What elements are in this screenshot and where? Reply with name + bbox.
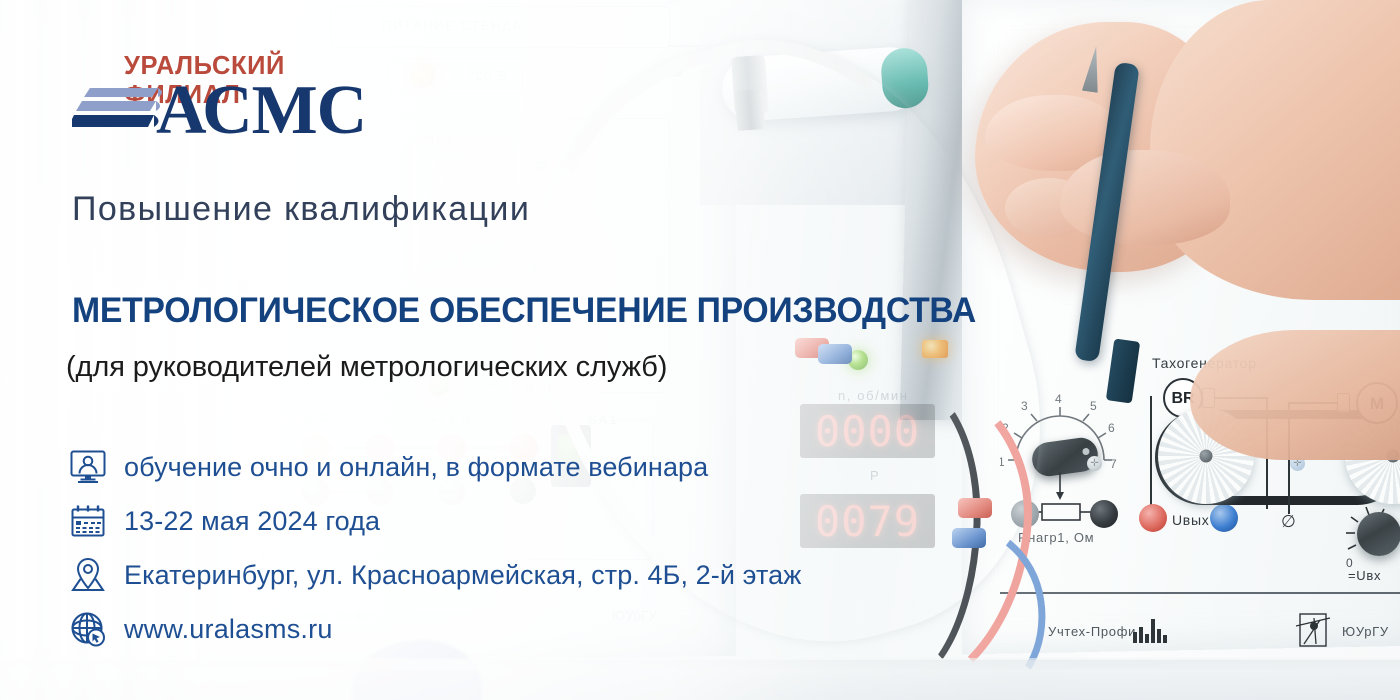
content-layer: УРАЛЬСКИЙ ФИЛИАЛ АСМС Повышение квалифик…: [0, 0, 1400, 700]
logo-acronym: АСМС: [156, 76, 366, 146]
page-subtitle: (для руководителей метрологических служб…: [66, 351, 667, 384]
globe-cursor-icon: [66, 607, 110, 651]
map-pin-icon: [66, 553, 110, 597]
promo-banner: ПИТАНИЕ СТЕНДА ~ 220 В QF1 Schneider = 1…: [0, 0, 1400, 700]
info-text-dates: 13-22 мая 2024 года: [124, 506, 380, 537]
calendar-icon: [66, 499, 110, 543]
info-text-address: Екатеринбург, ул. Красноармейская, стр. …: [124, 560, 801, 591]
info-row-address: Екатеринбург, ул. Красноармейская, стр. …: [66, 548, 801, 602]
info-row-format: обучение очно и онлайн, в формате вебина…: [66, 440, 801, 494]
kicker-text: Повышение квалификации: [72, 190, 530, 229]
page-title: МЕТРОЛОГИЧЕСКОЕ ОБЕСПЕЧЕНИЕ ПРОИЗВОДСТВА: [72, 291, 976, 331]
logo[interactable]: УРАЛЬСКИЙ ФИЛИАЛ АСМС: [72, 52, 402, 150]
info-text-website[interactable]: www.uralasms.ru: [124, 614, 333, 645]
info-row-dates: 13-22 мая 2024 года: [66, 494, 801, 548]
info-text-format: обучение очно и онлайн, в формате вебина…: [124, 452, 708, 483]
info-row-website[interactable]: www.uralasms.ru: [66, 602, 801, 656]
webinar-monitor-icon: [66, 445, 110, 489]
info-list: обучение очно и онлайн, в формате вебина…: [66, 440, 801, 656]
